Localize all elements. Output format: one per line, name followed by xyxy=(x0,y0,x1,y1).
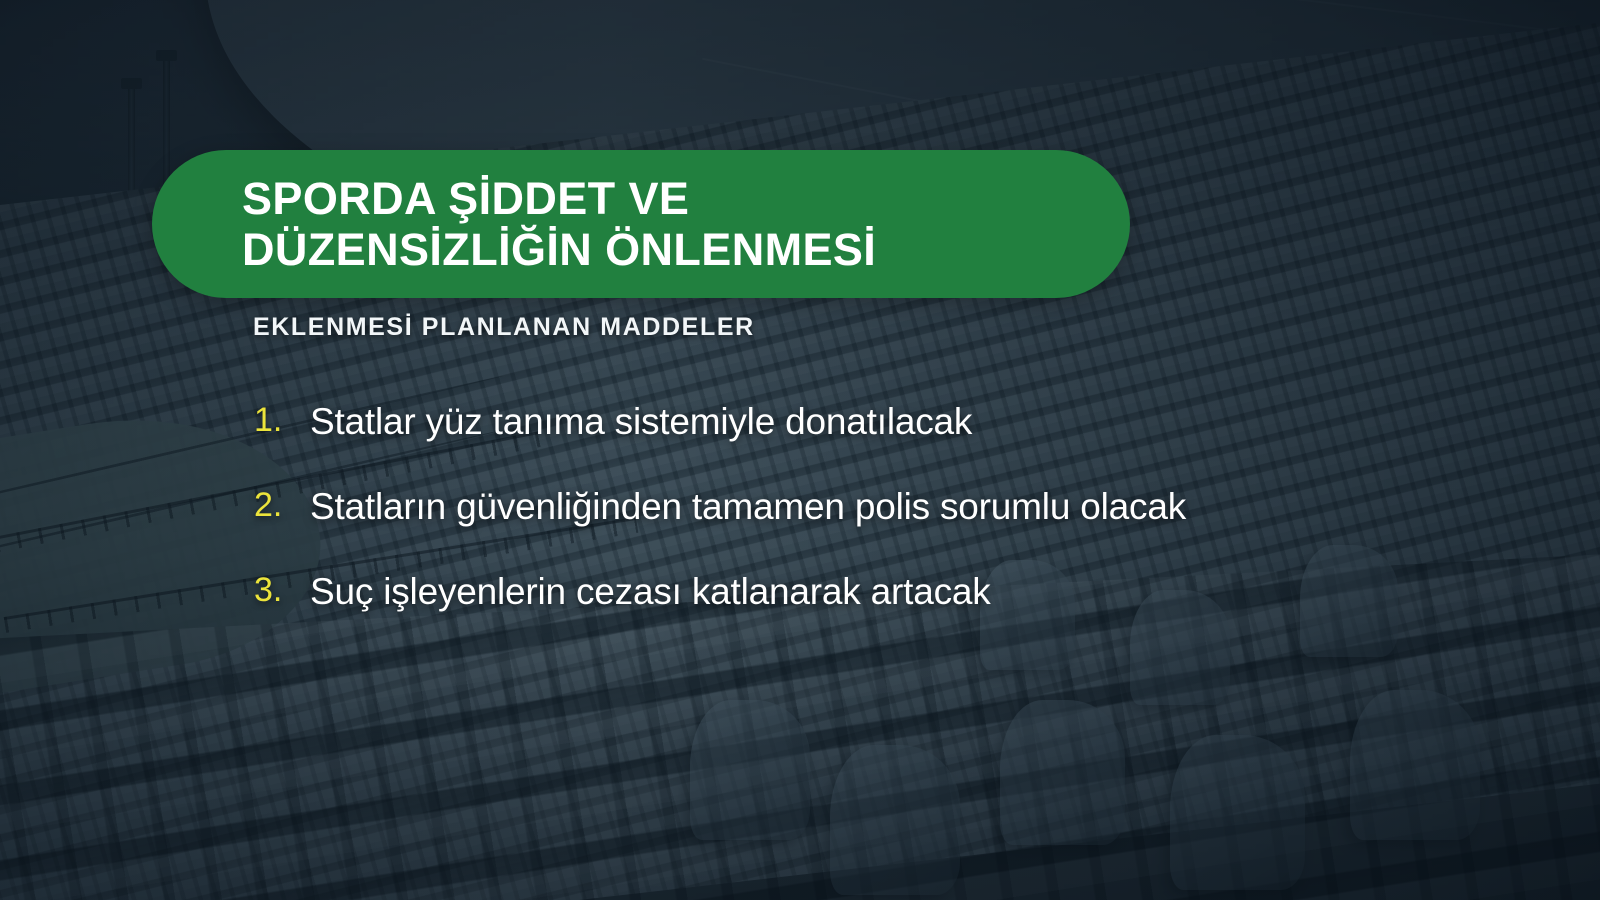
title-banner: SPORDA ŞİDDET VE DÜZENSİZLİĞİN ÖNLENMESİ xyxy=(152,150,1130,298)
list-item: 1. Statlar yüz tanıma sistemiyle donatıl… xyxy=(254,398,1374,447)
subtitle: EKLENMESİ PLANLANAN MADDELER xyxy=(253,313,755,342)
list-item-text: Statlar yüz tanıma sistemiyle donatılaca… xyxy=(310,398,972,447)
list-item: 3. Suç işleyenlerin cezası katlanarak ar… xyxy=(254,568,1374,617)
list-item-number: 3. xyxy=(254,568,310,613)
list-item: 2. Statların güvenliğinden tamamen polis… xyxy=(254,483,1374,532)
slide-content: SPORDA ŞİDDET VE DÜZENSİZLİĞİN ÖNLENMESİ… xyxy=(0,0,1600,900)
list-item-text: Statların güvenliğinden tamamen polis so… xyxy=(310,483,1186,532)
title-line-2: DÜZENSİZLİĞİN ÖNLENMESİ xyxy=(152,224,1130,275)
list-item-text: Suç işleyenlerin cezası katlanarak artac… xyxy=(310,568,991,617)
list-item-number: 1. xyxy=(254,398,310,443)
proposed-articles-list: 1. Statlar yüz tanıma sistemiyle donatıl… xyxy=(254,398,1374,652)
list-item-number: 2. xyxy=(254,483,310,528)
title-line-1: SPORDA ŞİDDET VE xyxy=(152,173,1130,224)
presentation-slide: SPORDA ŞİDDET VE DÜZENSİZLİĞİN ÖNLENMESİ… xyxy=(0,0,1600,900)
